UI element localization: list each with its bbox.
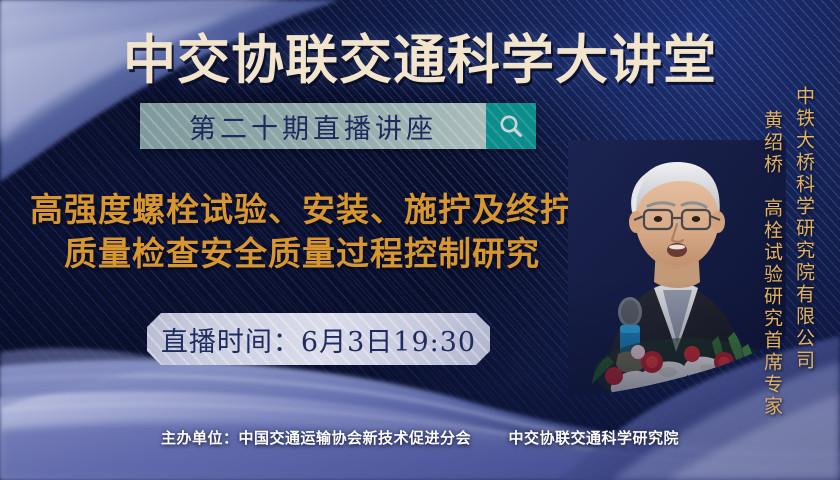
subtitle-bar: 第二十期直播讲座 (140, 103, 536, 149)
promo-poster: 中交协联交通科学大讲堂 第二十期直播讲座 高强度螺栓试验、安装、施拧及终拧 质量… (0, 0, 840, 480)
footer-organizers: 主办单位：中国交通运输协会新技术促进分会 中交协联交通科学研究院 (0, 427, 840, 448)
subtitle-text: 第二十期直播讲座 (189, 107, 437, 146)
live-time-text: 直播时间：6月3日19:30 (161, 320, 476, 359)
topic-line-1: 高强度螺栓试验、安装、施拧及终拧 (30, 190, 574, 229)
search-button[interactable] (486, 103, 536, 149)
search-icon (497, 112, 525, 140)
footer-organizer-primary: 主办单位：中国交通运输协会新技术促进分会 (161, 429, 471, 447)
live-time-badge: 直播时间：6月3日19:30 (147, 313, 490, 365)
page-title: 中交协联交通科学大讲堂 (0, 18, 840, 94)
speaker-name-title: 黄绍桥 高栓试验研究首席专家 (759, 110, 786, 418)
topic-heading: 高强度螺栓试验、安装、施拧及终拧 质量检查安全质量过程控制研究 (4, 188, 600, 276)
subtitle-field: 第二十期直播讲座 (140, 103, 486, 149)
topic-line-2: 质量检查安全质量过程控制研究 (4, 232, 600, 276)
speaker-photo (568, 140, 786, 395)
footer-organizer-secondary: 中交协联交通科学研究院 (508, 429, 679, 447)
speaker-organization: 中铁大桥科学研究院有限公司 (791, 86, 818, 372)
